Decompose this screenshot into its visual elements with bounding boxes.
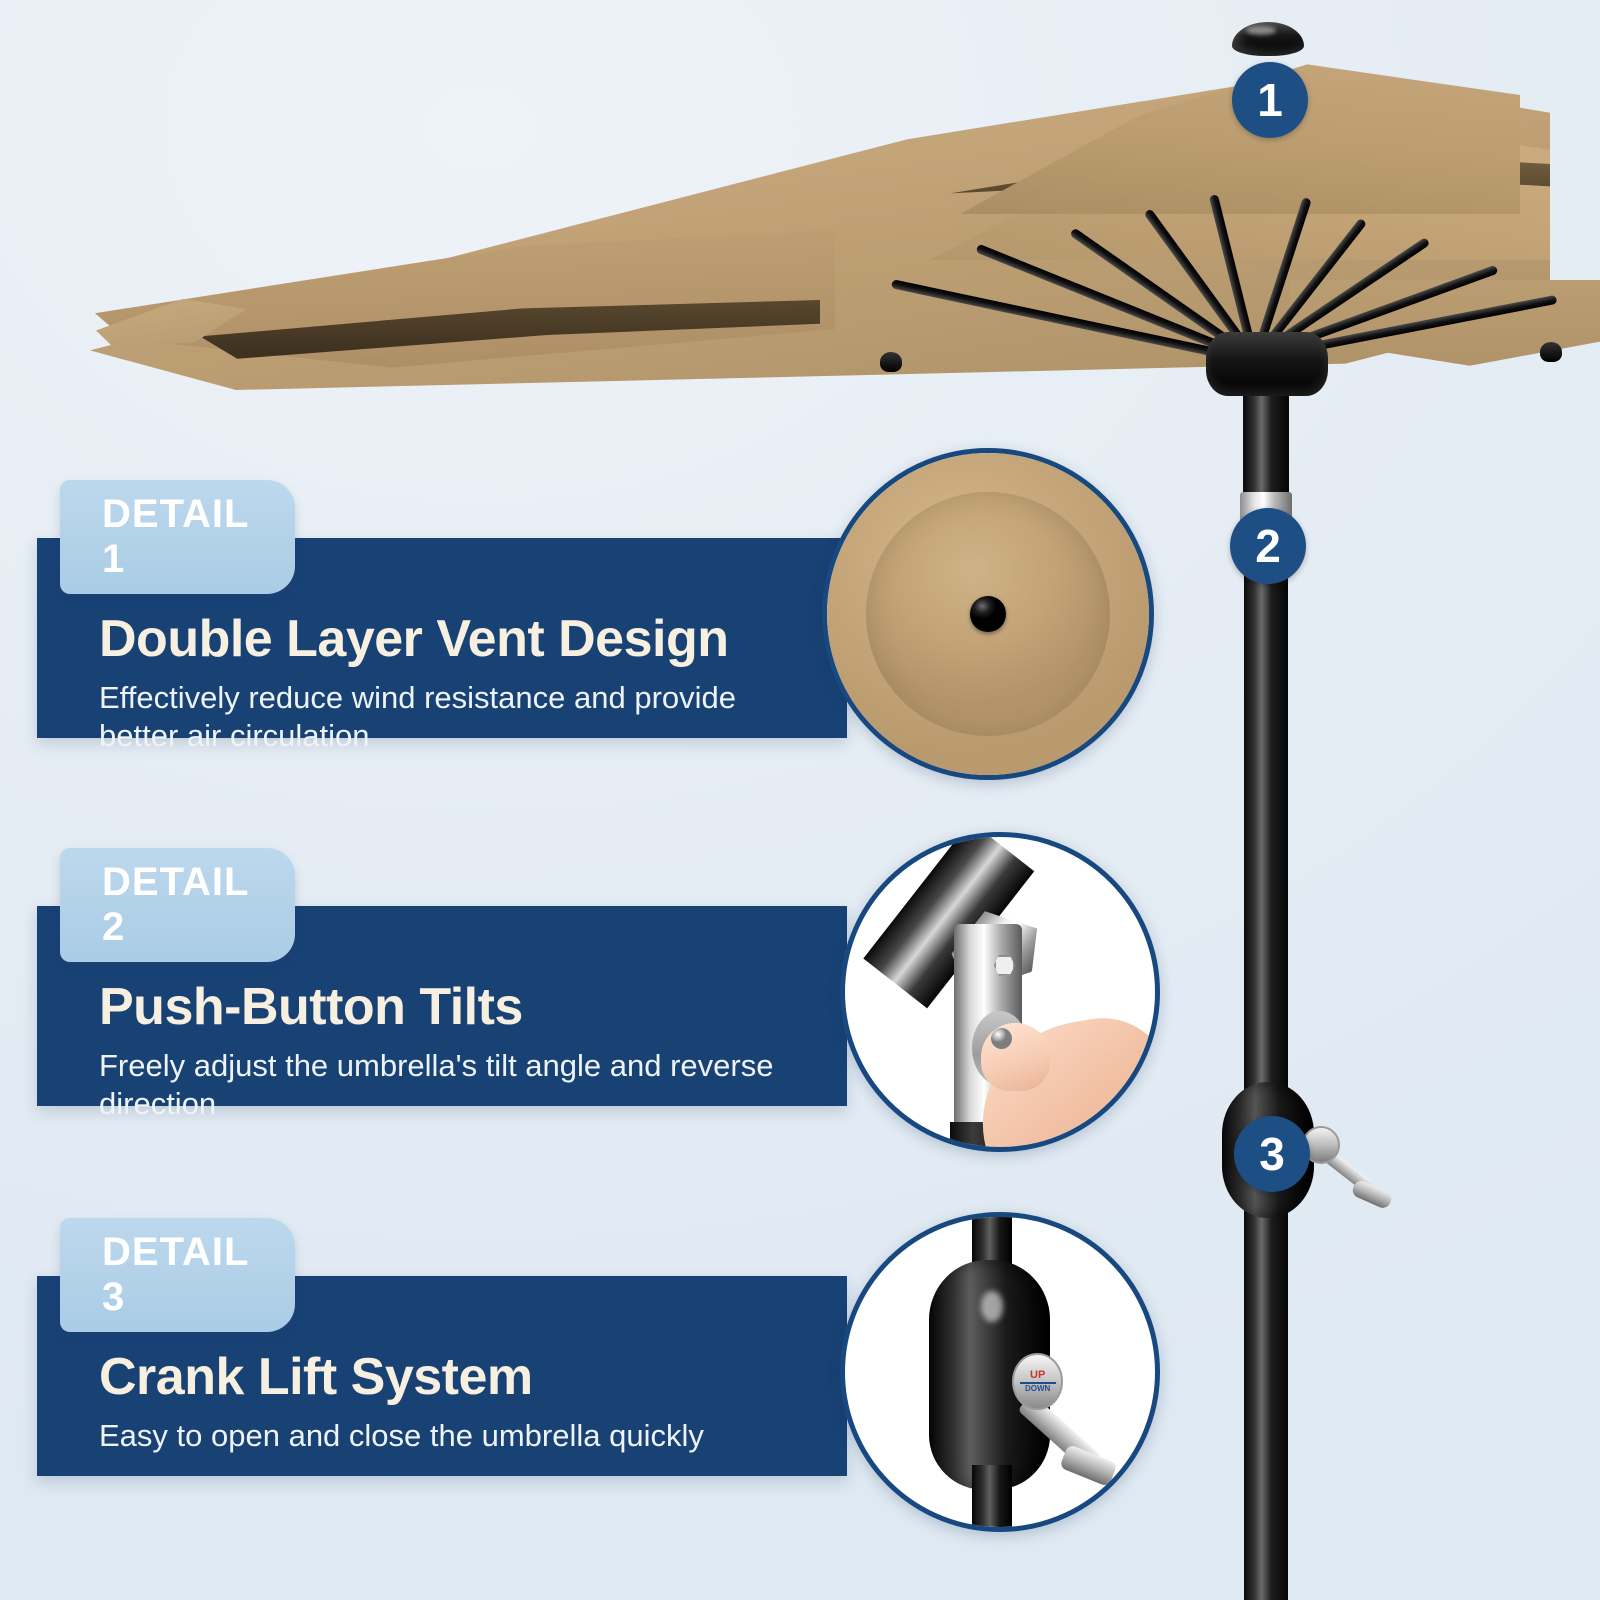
detail-3-callout-image[interactable]: UP DOWN: [840, 1212, 1160, 1532]
detail-1-tab[interactable]: DETAIL 1: [60, 480, 295, 594]
marker-badge-2[interactable]: 2: [1230, 508, 1306, 584]
finial-cap: [1232, 22, 1304, 56]
canopy-rib-tip: [1540, 342, 1562, 362]
detail-2-description: Freely adjust the umbrella's tilt angle …: [99, 1047, 787, 1124]
marker-badge-3[interactable]: 3: [1234, 1116, 1310, 1192]
canopy-hub: [1206, 332, 1328, 396]
detail-3-title: Crank Lift System: [99, 1350, 787, 1405]
detail-2-callout-image[interactable]: [840, 832, 1160, 1152]
vent-center-knob-icon: [970, 596, 1005, 631]
marker-badge-1[interactable]: 1: [1232, 62, 1308, 138]
crank-pole-lower: [972, 1465, 1012, 1532]
canopy-rib-tip: [880, 352, 902, 372]
detail-3-description: Easy to open and close the umbrella quic…: [99, 1417, 787, 1455]
detail-1-description: Effectively reduce wind resistance and p…: [99, 679, 787, 756]
crank-dial-label[interactable]: UP DOWN: [1012, 1353, 1063, 1410]
detail-2-title: Push-Button Tilts: [99, 980, 787, 1035]
crank-up-label: UP: [1030, 1370, 1045, 1381]
detail-1-callout-image[interactable]: [822, 448, 1154, 780]
crank-knob: [1350, 1179, 1393, 1211]
detail-1-title: Double Layer Vent Design: [99, 612, 787, 667]
marker-badge-1-label: 1: [1257, 73, 1283, 127]
detail-2-tab[interactable]: DETAIL 2: [60, 848, 295, 962]
marker-badge-2-label: 2: [1255, 519, 1281, 573]
detail-3-tab[interactable]: DETAIL 3: [60, 1218, 295, 1332]
marker-badge-3-label: 3: [1259, 1127, 1285, 1181]
infographic-canvas: 1 2 3 Double Layer Vent Design Effective…: [0, 0, 1600, 1600]
crank-down-label: DOWN: [1025, 1385, 1050, 1393]
